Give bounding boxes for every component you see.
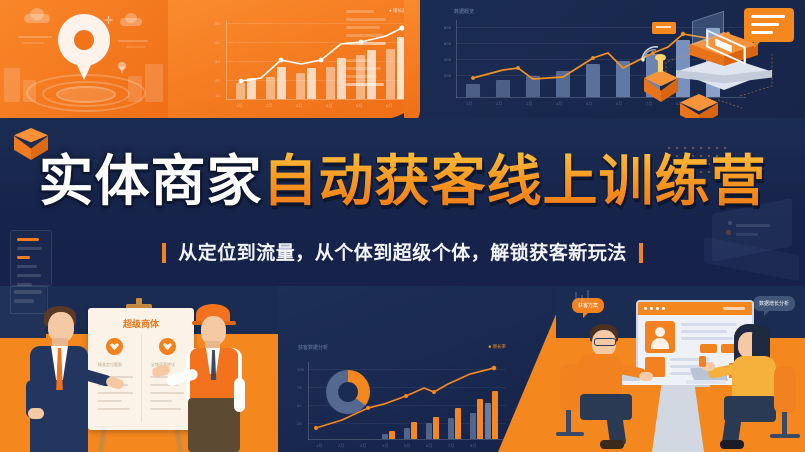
board-title: 超级商体 xyxy=(88,317,194,330)
chip-badge xyxy=(700,344,717,353)
subtitle-text: 从定位到流量，从个体到超级个体，解锁获客新玩法 xyxy=(178,238,627,265)
heart-badge-icon xyxy=(159,338,176,355)
office-scene: 获客方案 数据增长分析 xyxy=(556,286,805,452)
orange-corner-wedge xyxy=(498,286,558,452)
office-chair xyxy=(774,366,796,414)
location-panel: ✛ xyxy=(0,0,170,120)
top-mid-chart-panel: 50 40 30 20 10 xyxy=(168,0,433,120)
bottom-band: 超级商体 精准定位客群 全域获客转化 xyxy=(0,286,805,452)
chat-bubble-right: 数据增长分析 xyxy=(753,296,795,311)
trend-line xyxy=(308,362,506,440)
user-avatar xyxy=(645,321,675,353)
easel-scene: 超级商体 精准定位客群 全域获客转化 xyxy=(0,286,280,452)
chart-title: 获客数据分析 xyxy=(298,344,328,351)
isometric-platform-illustration xyxy=(622,0,805,120)
cloud-icon xyxy=(24,14,50,23)
glasses-icon xyxy=(594,338,616,346)
page-title: 实体商家自动获客线上训练营 xyxy=(0,154,805,209)
top-mid-chart: 50 40 30 20 10 xyxy=(226,20,412,100)
cloud-icon xyxy=(120,18,142,26)
radar-ring xyxy=(56,86,116,103)
subtitle-bar-right xyxy=(639,243,643,263)
bottom-mid-chart: 100 75 50 25 xyxy=(308,362,506,440)
poster-canvas: ✛ xyxy=(0,0,805,452)
title-white-part: 实体商家 xyxy=(38,149,262,213)
subtitle: 从定位到流量，从个体到超级个体，解锁获客新玩法 xyxy=(0,238,805,265)
office-chair xyxy=(560,364,580,412)
trend-line xyxy=(226,20,412,100)
subtitle-bar-left xyxy=(162,243,166,263)
heart-badge-icon xyxy=(106,338,123,355)
bottom-mid-chart-panel: 获客数据分析 ■ 增长率 100 75 50 25 xyxy=(278,286,558,452)
chart-legend-label: ■ 增长率 xyxy=(489,344,506,350)
chat-bubble-icon xyxy=(744,8,794,42)
board-left-caption: 精准定位客群 xyxy=(98,362,122,368)
title-orange-part: 自动获客线上训练营 xyxy=(263,149,767,213)
cube-icon xyxy=(644,70,678,104)
phone-icon xyxy=(699,356,706,367)
cube-icon xyxy=(680,94,718,120)
top-band: ✛ xyxy=(0,0,805,120)
presentation-board: 超级商体 精准定位客群 全域获客转化 xyxy=(88,308,194,430)
chart-title: 数据概览 xyxy=(454,8,474,15)
location-pin-icon xyxy=(58,14,110,80)
